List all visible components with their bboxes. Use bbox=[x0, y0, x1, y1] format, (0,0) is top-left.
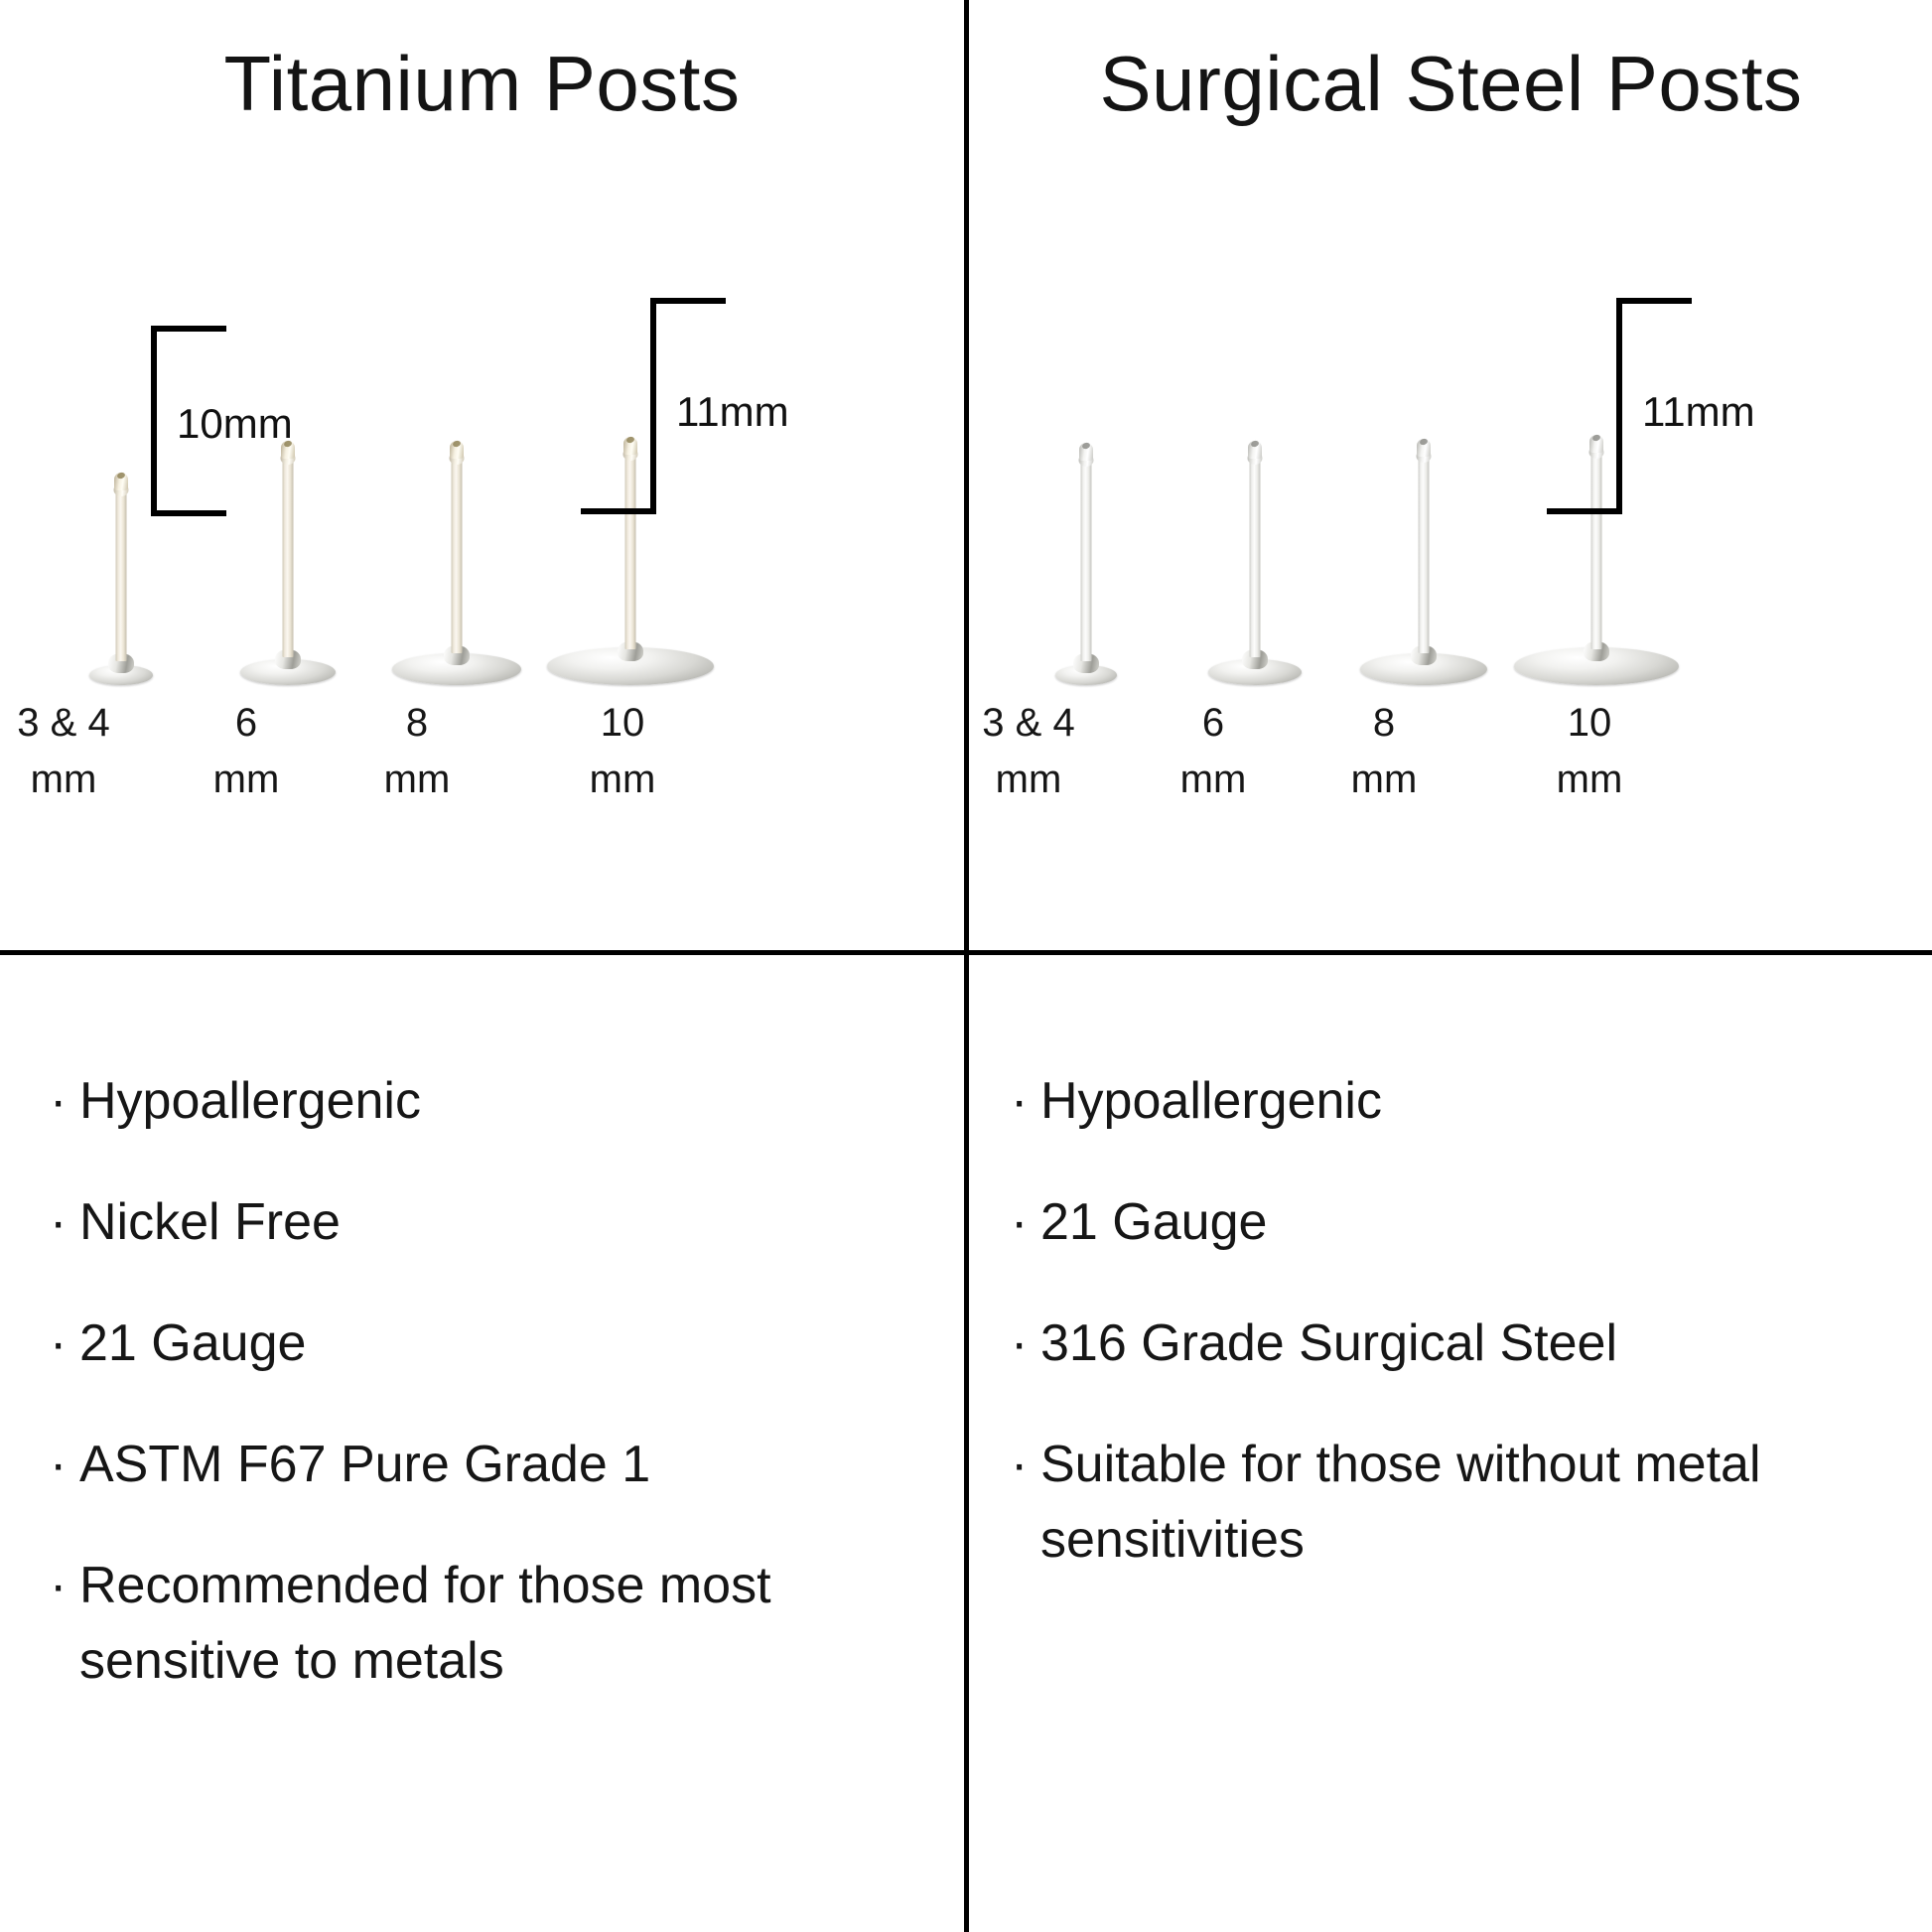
surgical-steel-panel-top: Surgical Steel Posts bbox=[969, 0, 1932, 950]
bullet-dot: · bbox=[50, 1428, 79, 1503]
size-unit: mm bbox=[1114, 752, 1312, 808]
feature-text: 21 Gauge bbox=[1040, 1185, 1904, 1261]
size-unit: mm bbox=[523, 752, 722, 808]
feature-item: · Recommended for those most sensitive t… bbox=[50, 1549, 923, 1700]
titanium-features-panel: · Hypoallergenic · Nickel Free · 21 Gaug… bbox=[0, 955, 964, 1932]
size-unit: mm bbox=[929, 752, 1128, 808]
feature-text: 316 Grade Surgical Steel bbox=[1040, 1307, 1904, 1382]
titanium-posts-row bbox=[0, 288, 964, 685]
size-label-8mm: 8 mm bbox=[1285, 695, 1483, 808]
size-label-10mm: 10 mm bbox=[523, 695, 722, 808]
steel-size-labels: 3 & 4 mm 6 mm 8 mm 10 mm bbox=[969, 695, 1932, 844]
feature-text: Suitable for those without metal sensiti… bbox=[1040, 1428, 1904, 1579]
size-value: 8 bbox=[318, 695, 516, 752]
size-label-3-4mm: 3 & 4 mm bbox=[0, 695, 163, 808]
surgical-steel-posts-row bbox=[969, 288, 1932, 685]
size-unit: mm bbox=[147, 752, 345, 808]
bullet-dot: · bbox=[50, 1307, 79, 1382]
size-unit: mm bbox=[318, 752, 516, 808]
size-value: 6 bbox=[1114, 695, 1312, 752]
bullet-dot: · bbox=[1011, 1307, 1040, 1382]
size-value: 10 bbox=[1490, 695, 1689, 752]
size-label-6mm: 6 mm bbox=[147, 695, 345, 808]
size-label-6mm: 6 mm bbox=[1114, 695, 1312, 808]
feature-text: ASTM F67 Pure Grade 1 bbox=[79, 1428, 923, 1503]
titanium-size-labels: 3 & 4 mm 6 mm 8 mm 10 mm bbox=[0, 695, 964, 844]
feature-item: · Nickel Free bbox=[50, 1185, 923, 1261]
titanium-panel-top: Titanium Posts bbox=[0, 0, 964, 950]
size-value: 3 & 4 bbox=[0, 695, 163, 752]
size-unit: mm bbox=[0, 752, 163, 808]
bullet-dot: · bbox=[50, 1185, 79, 1261]
surgical-steel-panel-title: Surgical Steel Posts bbox=[969, 42, 1932, 127]
size-label-10mm: 10 mm bbox=[1490, 695, 1689, 808]
feature-text: Nickel Free bbox=[79, 1185, 923, 1261]
feature-text: Hypoallergenic bbox=[1040, 1064, 1904, 1140]
size-value: 8 bbox=[1285, 695, 1483, 752]
feature-text: Hypoallergenic bbox=[79, 1064, 923, 1140]
surgical-steel-features-panel: · Hypoallergenic · 21 Gauge · 316 Grade … bbox=[969, 955, 1932, 1932]
feature-item: · Hypoallergenic bbox=[1011, 1064, 1904, 1140]
surgical-steel-feature-list: · Hypoallergenic · 21 Gauge · 316 Grade … bbox=[1011, 1064, 1904, 1624]
earring-post-comparison-infographic: Titanium Posts bbox=[0, 0, 1932, 1932]
bracket-cap-bottom bbox=[581, 508, 656, 514]
titanium-panel-title: Titanium Posts bbox=[0, 42, 964, 127]
feature-text: 21 Gauge bbox=[79, 1307, 923, 1382]
bracket-stem bbox=[151, 326, 157, 516]
size-unit: mm bbox=[1490, 752, 1689, 808]
feature-item: · 21 Gauge bbox=[50, 1307, 923, 1382]
bracket-cap-top bbox=[151, 326, 226, 332]
size-value: 10 bbox=[523, 695, 722, 752]
feature-item: · 21 Gauge bbox=[1011, 1185, 1904, 1261]
titanium-11mm-label: 11mm bbox=[676, 391, 789, 433]
size-unit: mm bbox=[1285, 752, 1483, 808]
feature-item: · Suitable for those without metal sensi… bbox=[1011, 1428, 1904, 1579]
feature-item: · ASTM F67 Pure Grade 1 bbox=[50, 1428, 923, 1503]
feature-item: · Hypoallergenic bbox=[50, 1064, 923, 1140]
bracket-cap-bottom bbox=[1547, 508, 1622, 514]
bullet-dot: · bbox=[1011, 1064, 1040, 1140]
bracket-cap-bottom bbox=[151, 510, 226, 516]
bullet-dot: · bbox=[1011, 1185, 1040, 1261]
titanium-10mm-label: 10mm bbox=[177, 403, 293, 445]
steel-11mm-label: 11mm bbox=[1642, 391, 1755, 433]
bracket-cap-top bbox=[650, 298, 726, 304]
bracket-stem bbox=[650, 298, 656, 514]
size-label-8mm: 8 mm bbox=[318, 695, 516, 808]
feature-text: Recommended for those most sensitive to … bbox=[79, 1549, 923, 1700]
titanium-feature-list: · Hypoallergenic · Nickel Free · 21 Gaug… bbox=[50, 1064, 923, 1744]
size-value: 6 bbox=[147, 695, 345, 752]
bracket-stem bbox=[1616, 298, 1622, 514]
feature-item: · 316 Grade Surgical Steel bbox=[1011, 1307, 1904, 1382]
bullet-dot: · bbox=[1011, 1428, 1040, 1503]
bracket-cap-top bbox=[1616, 298, 1692, 304]
bullet-dot: · bbox=[50, 1064, 79, 1140]
size-value: 3 & 4 bbox=[929, 695, 1128, 752]
size-label-3-4mm: 3 & 4 mm bbox=[929, 695, 1128, 808]
bullet-dot: · bbox=[50, 1549, 79, 1624]
